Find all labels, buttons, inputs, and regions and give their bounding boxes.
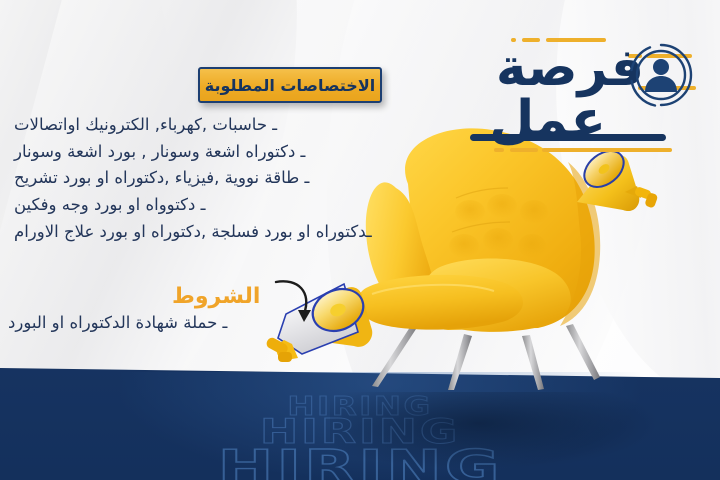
person-avatar-icon [628,42,694,108]
list-item: ـدكتوراه او بورد فسلجة ,دكتوراه او بورد … [0,219,392,246]
headline-dash [542,148,672,152]
list-item: ـ دكتوواه او بورد وجه وفكين [0,192,392,219]
headline-block: فرصة عمل [432,16,702,146]
headline-dash [494,148,504,152]
job-opportunity-poster: HIRING HIRING HIRING [0,0,720,480]
section-title-label: الاختصاصات المطلوبة [205,76,375,95]
list-item: ـ دكتوراه اشعة وسونار , بورد اشعة وسونار [0,139,392,166]
specializations-list: ـ حاسبات ,كهرباء, الكترونيك اواتصالات ـ … [0,112,392,246]
conditions-title: الشروط [172,284,260,309]
list-item: ـ طاقة نووية ,فيزياء ,دكتوراه او بورد تش… [0,165,392,192]
headline-word-opportunity: فرصة [496,42,644,94]
chair-seat [357,275,523,330]
headline-dash [510,148,538,152]
hiring-watermark-text: HIRING [218,440,503,480]
headline-underline [470,134,666,141]
section-title-badge: الاختصاصات المطلوبة [198,67,382,103]
conditions-text: ـ حملة شهادة الدكتوراه او البورد [0,313,288,332]
list-item: ـ حاسبات ,كهرباء, الكترونيك اواتصالات [0,112,392,139]
chair-legs [372,324,600,390]
